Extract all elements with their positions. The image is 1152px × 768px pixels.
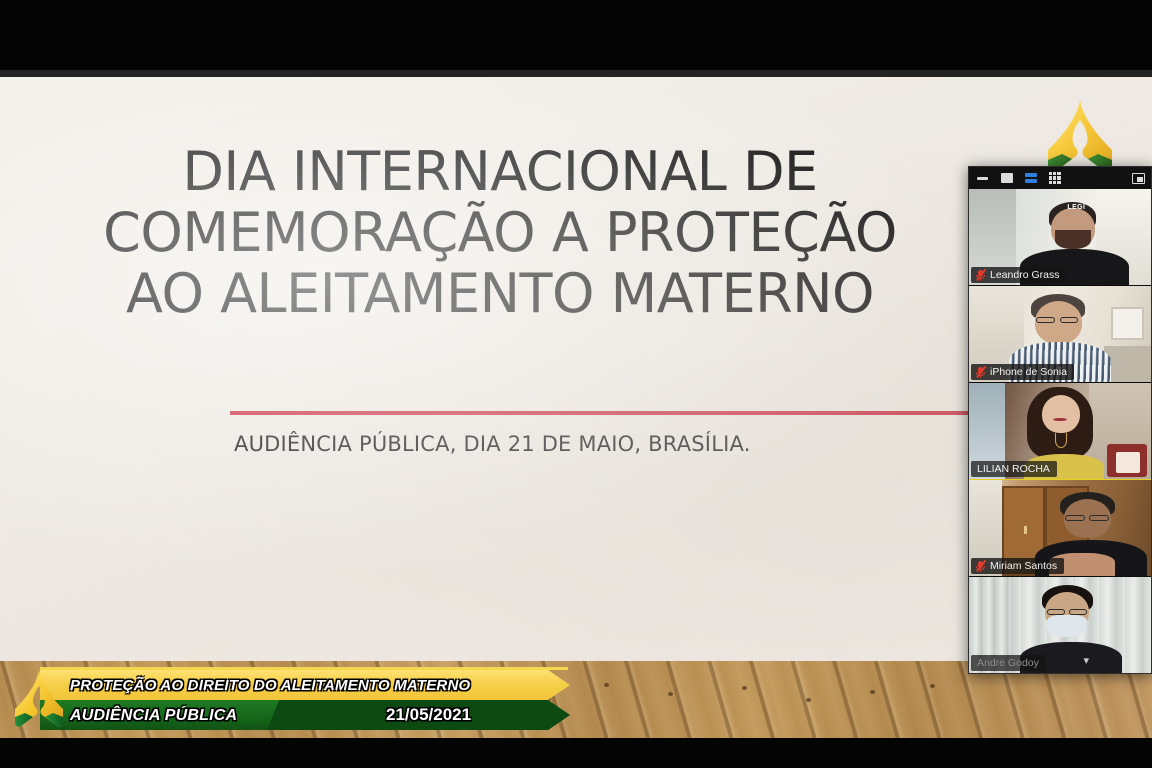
banner-headline-text: PROTEÇÃO AO DIREITO DO ALEITAMENTO MATER… [70,677,470,694]
participant-tile[interactable]: iPhone de Sonia [969,286,1151,383]
mic-muted-icon [975,366,986,378]
slide-title-line-1: DIA INTERNACIONAL DE [0,141,1000,202]
participant-name: LILIAN ROCHA [977,463,1050,475]
participant-name-chip: iPhone de Sonia [971,364,1074,380]
participant-tile[interactable]: Miriam Santos [969,480,1151,577]
participant-name: iPhone de Sonia [990,366,1067,378]
picture-in-picture-icon[interactable] [1130,172,1145,185]
slide-title-line-2: COMEMORAÇÃO A PROTEÇÃO [0,202,1000,263]
letterbox-top-edge [0,70,1152,77]
video-conference-panel[interactable]: LEGI Leandro Grass [968,166,1152,674]
slide-title: DIA INTERNACIONAL DE COMEMORAÇÃO A PROTE… [0,141,1000,324]
participant-tile-list: LEGI Leandro Grass [969,189,1151,673]
letterbox-top-bar [0,0,1152,70]
chevron-down-icon[interactable]: ▾ [1083,654,1089,667]
participant-name-chip: LILIAN ROCHA [971,461,1057,477]
lower-third-banner: PROTEÇÃO AO DIREITO DO ALEITAMENTO MATER… [0,666,600,738]
banner-date-text: 21/05/2021 [386,705,471,725]
strip-view-icon[interactable] [1023,172,1038,185]
participant-name-chip: Miriam Santos [971,558,1064,574]
participant-tile-active-speaker[interactable]: LILIAN ROCHA [969,383,1151,480]
gallery-view-icon[interactable] [1047,172,1062,185]
participant-name: Miriam Santos [990,560,1057,572]
speaker-view-icon[interactable] [999,172,1014,185]
cldf-flame-logo [6,668,72,736]
participant-tile[interactable]: LEGI Leandro Grass [969,189,1151,286]
banner-top-accent-line [40,667,568,670]
participant-name-chip: Andre Godoy [971,655,1046,671]
video-panel-toolbar[interactable] [969,167,1151,189]
mic-muted-icon [975,269,986,281]
participant-tile[interactable]: ▾ Andre Godoy [969,577,1151,673]
letterbox-bottom-bar [0,738,1152,768]
participant-name-chip: Leandro Grass [971,267,1066,283]
banner-subline-text: AUDIÊNCIA PÚBLICA [70,707,237,725]
slide-title-line-3: AO ALEITAMENTO MATERNO [0,263,1000,324]
broadcast-stage: DIA INTERNACIONAL DE COMEMORAÇÃO A PROTE… [0,0,1152,768]
participant-name: Leandro Grass [990,269,1059,281]
minimize-icon[interactable] [975,172,990,185]
slide-subtitle: AUDIÊNCIA PÚBLICA, DIA 21 DE MAIO, BRASÍ… [234,432,751,456]
mic-muted-icon [975,560,986,572]
participant-name: Andre Godoy [977,657,1039,669]
